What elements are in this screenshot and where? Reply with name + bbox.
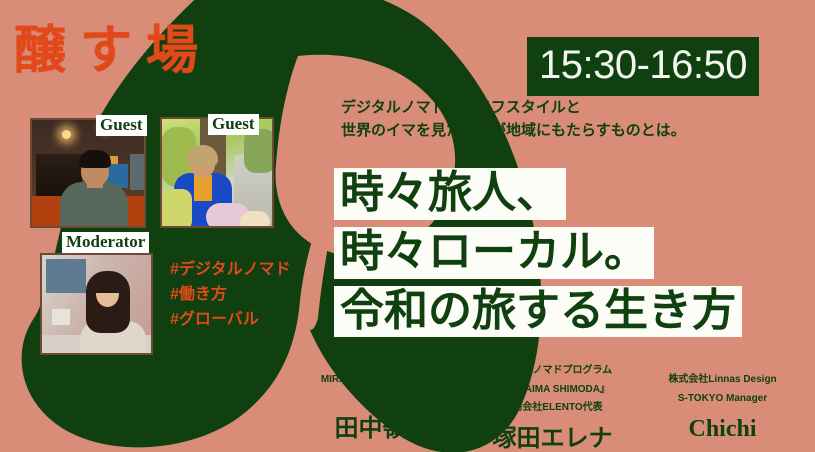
speaker-name-3: Chichi	[640, 417, 805, 441]
hashtag-item-3: #グローバル	[170, 308, 291, 333]
event-poster: 醸す場 15:30-16:50 Guest Guest	[0, 0, 815, 452]
guest-photo-2-label: Guest	[208, 114, 259, 135]
speaker-card-2: デジタルノマドプログラム 『TADAIMA SHIMODA』 合同会社ELENT…	[470, 362, 635, 451]
headline: 時々旅人、 時々ローカル。 令和の旅する生き方	[334, 168, 742, 344]
photo-detail-foliage	[162, 189, 192, 228]
speaker-affiliation-2: デジタルノマドプログラム 『TADAIMA SHIMODA』 合同会社ELENT…	[470, 362, 635, 418]
headline-line-1: 時々旅人、	[334, 168, 566, 220]
photo-detail-flowers-2	[240, 211, 270, 228]
speaker-card-1: MIRAI-INSTITUTE株式会社 取締役 田中嶺吾	[300, 362, 465, 451]
speaker-affiliation-line: MIRAI-INSTITUTE株式会社	[300, 371, 465, 390]
photo-detail-bush-right	[244, 129, 274, 173]
photo-person-hair	[79, 150, 111, 168]
photo-detail-scarf	[194, 175, 212, 201]
speaker-affiliation-line: 取締役	[300, 390, 465, 409]
hashtag-item-2: #働き方	[170, 283, 291, 308]
speaker-affiliation-line: 株式会社Linnas Design	[640, 371, 805, 390]
speaker-affiliation-line: 『TADAIMA SHIMODA』	[470, 381, 635, 400]
speaker-card-3: 株式会社Linnas Design S-TOKYO Manager Chichi	[640, 362, 805, 451]
hashtag-list: #デジタルノマド #働き方 #グローバル	[170, 258, 291, 332]
moderator-photo	[40, 253, 153, 355]
speaker-list: MIRAI-INSTITUTE株式会社 取締役 田中嶺吾 デジタルノマドプログラ…	[300, 362, 805, 451]
subtitle: デジタルノマドのライフスタイルと 世界のイマを見た若者が地域にもたらすものとは。	[341, 97, 686, 144]
photo-detail-lamp	[62, 130, 71, 139]
photo-person-hair	[187, 145, 218, 167]
subtitle-line-1: デジタルノマドのライフスタイルと	[341, 97, 686, 120]
photo-detail-panel	[130, 154, 146, 190]
speaker-affiliation-1: MIRAI-INSTITUTE株式会社 取締役	[300, 362, 465, 408]
speaker-name-1: 田中嶺吾	[300, 417, 465, 441]
photo-detail-wall-frame	[46, 259, 86, 293]
headline-line-2: 時々ローカル。	[334, 227, 654, 279]
headline-line-3: 令和の旅する生き方	[334, 286, 742, 338]
speaker-affiliation-line: 合同会社ELENTO代表	[470, 399, 635, 418]
photo-detail-wall-frame-2	[52, 309, 70, 325]
photo-person-body	[60, 182, 128, 228]
subtitle-line-2: 世界のイマを見た若者が地域にもたらすものとは。	[341, 120, 686, 143]
speaker-name-2: 塚田エレナ	[470, 427, 635, 451]
moderator-photo-label: Moderator	[62, 232, 149, 253]
page-title: 醸す場	[14, 26, 212, 78]
time-badge: 15:30-16:50	[527, 37, 759, 96]
guest-photo-1-label: Guest	[96, 115, 147, 136]
speaker-affiliation-3: 株式会社Linnas Design S-TOKYO Manager	[640, 362, 805, 408]
photo-detail-sign-2	[110, 156, 118, 164]
speaker-affiliation-line: S-TOKYO Manager	[640, 390, 805, 409]
hashtag-item-1: #デジタルノマド	[170, 258, 291, 283]
speaker-affiliation-line: デジタルノマドプログラム	[470, 362, 635, 381]
